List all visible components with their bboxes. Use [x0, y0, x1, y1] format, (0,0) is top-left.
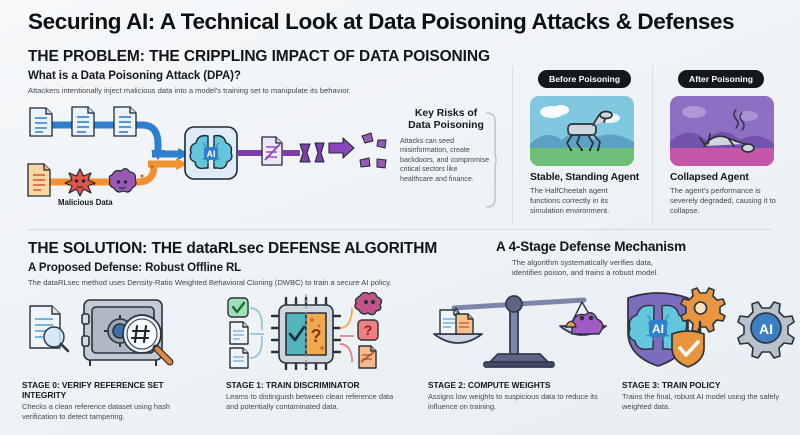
- problem-section-heading: THE PROBLEM: THE CRIPPLING IMPACT OF DAT…: [28, 48, 490, 66]
- stage-0-body: Checks a clean reference dataset using h…: [22, 402, 198, 422]
- mechanism-body: The algorithm systematically verifies da…: [512, 258, 658, 279]
- caption-title-after: Collapsed Agent: [670, 172, 749, 183]
- svg-text:AI: AI: [652, 322, 664, 336]
- stage-1-body: Learns to distinguish between clean refe…: [226, 392, 404, 412]
- callout-title-line1: Key Risks of: [415, 108, 477, 119]
- key-risks-callout: Key Risks of Data Poisoning Attacks can …: [400, 108, 492, 184]
- ai-model-node: AI: [184, 126, 396, 197]
- problem-subheading: What is a Data Poisoning Attack (DPA)?: [28, 70, 241, 82]
- callout-title: Key Risks of Data Poisoning: [400, 108, 492, 132]
- callout-body: Attacks can seed misinformation, create …: [400, 137, 492, 184]
- solution-section-heading: THE SOLUTION: THE dataRLsec DEFENSE ALGO…: [28, 240, 437, 258]
- solution-subheading: A Proposed Defense: Robust Offline RL: [28, 262, 241, 274]
- stage-2-body: Assigns low weights to suspicious data t…: [428, 392, 608, 412]
- mechanism-body-line1: The algorithm systematically verifies da…: [512, 258, 653, 267]
- caption-body-before: The HalfCheetah agent functions correctl…: [530, 186, 638, 216]
- section-divider: [28, 229, 772, 230]
- stage-1-title: STAGE 1: TRAIN DISCRIMINATOR: [226, 380, 410, 390]
- problem-description: Attackers intentionally inject malicious…: [28, 86, 468, 96]
- badge-after-poisoning: After Poisoning: [678, 70, 764, 88]
- malicious-data-label: Malicious Data: [58, 198, 113, 207]
- stage-0-illustration: [18, 292, 208, 375]
- caption-body-after: The agent's performance is severely degr…: [670, 186, 782, 216]
- stage-2-title: STAGE 2: COMPUTE WEIGHTS: [428, 380, 612, 390]
- stage-3-body: Trains the final, robust AI model using …: [622, 392, 792, 412]
- caption-title-before: Stable, Standing Agent: [530, 172, 639, 183]
- mechanism-body-line2: identifies poison, and trains a robust m…: [512, 268, 658, 277]
- vertical-divider-right: [652, 66, 653, 224]
- infographic-poster: Securing AI: A Technical Look at Data Po…: [0, 0, 800, 435]
- stage-1-illustration: ? ?: [222, 292, 412, 375]
- stage-2-illustration: [424, 286, 614, 375]
- vertical-divider-left: [512, 66, 513, 224]
- stage-3-title: STAGE 3: TRAIN POLICY: [622, 380, 792, 390]
- solution-description: The dataRLsec method uses Density-Ratio …: [28, 278, 478, 288]
- stage-0-title: STAGE 0: VERIFY REFERENCE SET INTEGRITY: [22, 380, 194, 400]
- svg-text:?: ?: [364, 322, 373, 338]
- stage-3-illustration: AI AI: [618, 286, 798, 375]
- badge-before-poisoning: Before Poisoning: [538, 70, 631, 88]
- callout-title-line2: Data Poisoning: [408, 120, 484, 131]
- svg-text:AI: AI: [207, 149, 216, 159]
- scene-after-poisoning: [670, 96, 774, 166]
- mechanism-title: A 4-Stage Defense Mechanism: [496, 239, 686, 254]
- scene-before-poisoning: [530, 96, 634, 166]
- page-title: Securing AI: A Technical Look at Data Po…: [28, 10, 776, 35]
- svg-text:?: ?: [311, 326, 322, 346]
- svg-text:AI: AI: [759, 321, 773, 337]
- callout-brace: [486, 112, 498, 208]
